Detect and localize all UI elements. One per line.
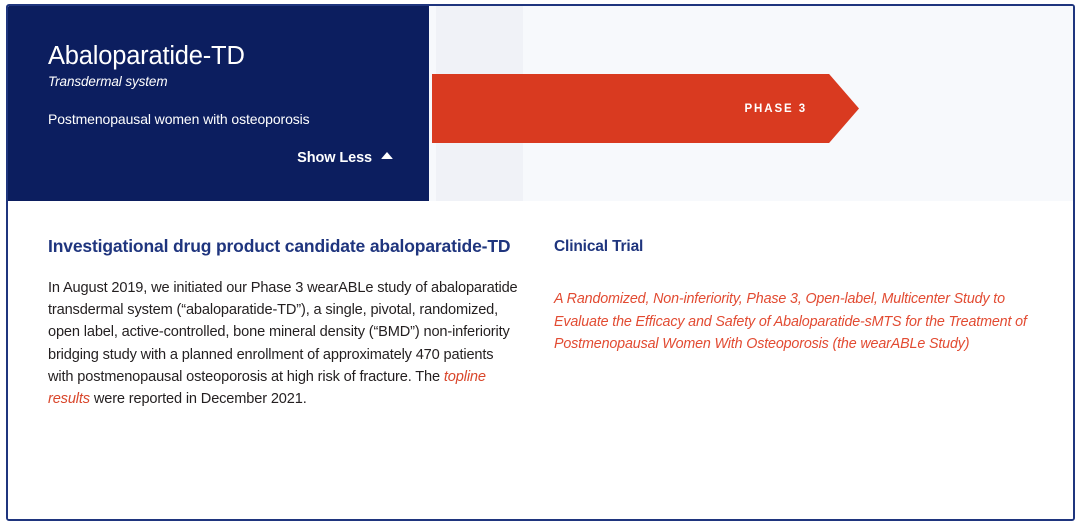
drug-subtitle: Transdermal system xyxy=(48,74,401,89)
caret-up-icon xyxy=(381,152,393,159)
phase-progress-arrow[interactable]: PHASE 3 xyxy=(432,74,859,143)
drug-population: Postmenopausal women with osteoporosis xyxy=(48,111,401,127)
card-header: Abaloparatide-TD Transdermal system Post… xyxy=(8,6,1073,201)
overview-paragraph: In August 2019, we initiated our Phase 3… xyxy=(48,277,518,410)
clinical-trial-heading: Clinical Trial xyxy=(554,237,1032,257)
clinical-trial-title: A Randomized, Non-inferiority, Phase 3, … xyxy=(554,288,1032,354)
drug-title: Abaloparatide-TD xyxy=(48,42,401,71)
card-body: Investigational drug product candidate a… xyxy=(8,201,1073,519)
drug-pipeline-card: Abaloparatide-TD Transdermal system Post… xyxy=(6,4,1075,521)
drug-info-panel: Abaloparatide-TD Transdermal system Post… xyxy=(8,6,429,201)
clinical-trial-column: Clinical Trial A Randomized, Non-inferio… xyxy=(554,235,1032,519)
show-less-toggle[interactable]: Show Less xyxy=(297,150,393,166)
overview-heading: Investigational drug product candidate a… xyxy=(48,235,518,258)
phase-label: PHASE 3 xyxy=(744,103,807,115)
overview-text-after-link: were reported in December 2021. xyxy=(90,391,307,407)
show-less-label: Show Less xyxy=(297,150,372,166)
overview-column: Investigational drug product candidate a… xyxy=(48,235,518,519)
